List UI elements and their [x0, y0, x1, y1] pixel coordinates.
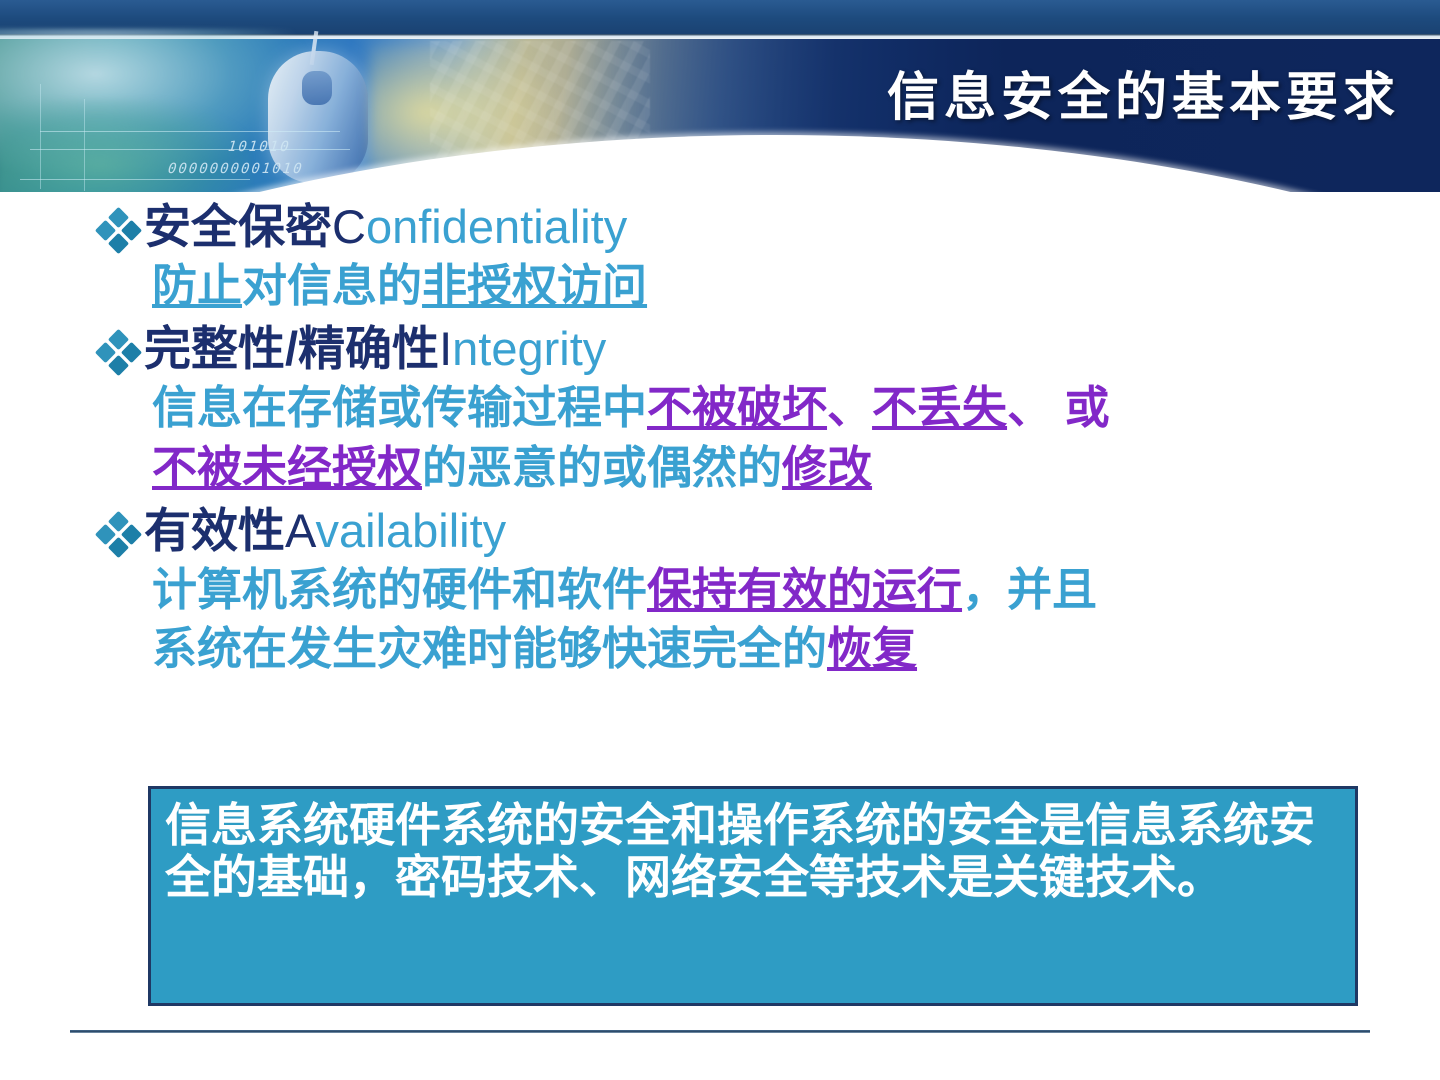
detail-segment: 计算机系统的硬件和软件	[152, 564, 647, 615]
detail-segment: 防止	[152, 260, 242, 311]
footer-divider	[70, 1030, 1370, 1033]
detail-segment: 对信息的	[242, 260, 422, 311]
bullet-term-en-initial: I	[439, 322, 452, 375]
scanline	[30, 149, 350, 150]
diamond-cluster-icon	[98, 514, 144, 560]
bullet-block-confidentiality: 安全保密Confidentiality 防止对信息的非授权访问	[0, 200, 1440, 316]
slide-body: 安全保密Confidentiality 防止对信息的非授权访问 完整性/精确性I…	[0, 200, 1440, 685]
summary-callout-text: 信息系统硬件系统的安全和操作系统的安全是信息系统安全的基础，密码技术、网络安全等…	[165, 799, 1341, 904]
detail-segment: 不丢失	[872, 382, 1007, 433]
bullet-detail-line: 防止对信息的非授权访问	[0, 256, 1440, 316]
detail-segment: 系统在发生灾难时能够快速完全的	[152, 623, 827, 674]
bullet-heading: 有效性Availability	[0, 504, 1440, 560]
summary-callout-box: 信息系统硬件系统的安全和操作系统的安全是信息系统安全的基础，密码技术、网络安全等…	[148, 786, 1358, 1006]
detail-segment: 信息在存储或传输过程中	[152, 382, 647, 433]
page-title: 信息安全的基本要求	[887, 72, 1400, 124]
grid-line	[40, 84, 41, 189]
bullet-term-en-initial: C	[332, 200, 366, 253]
detail-segment: 、	[827, 382, 872, 433]
bullet-detail-line: 不被未经授权的恶意的或偶然的修改	[0, 438, 1440, 498]
bullet-heading: 安全保密Confidentiality	[0, 200, 1440, 256]
detail-segment: 非授权访问	[422, 260, 647, 311]
bullet-heading-text: 完整性/精确性Integrity	[144, 322, 606, 377]
bullet-detail-line: 系统在发生灾难时能够快速完全的恢复	[0, 619, 1440, 679]
detail-segment: 的恶意的或偶然的	[422, 442, 782, 493]
bullet-heading-text: 有效性Availability	[144, 504, 506, 559]
bullet-heading-text: 安全保密Confidentiality	[144, 200, 627, 255]
detail-segment: 不被未经授权	[152, 442, 422, 493]
detail-segment: ，并且	[962, 564, 1097, 615]
bullet-block-availability: 有效性Availability 计算机系统的硬件和软件保持有效的运行，并且 系统…	[0, 504, 1440, 680]
bullet-heading: 完整性/精确性Integrity	[0, 322, 1440, 378]
bullet-block-integrity: 完整性/精确性Integrity 信息在存储或传输过程中不被破坏、不丢失、 或 …	[0, 322, 1440, 498]
bullet-term-en-rest: vailability	[316, 504, 507, 557]
detail-segment: 、 或	[1007, 382, 1110, 433]
scanline	[40, 131, 340, 132]
slide: 101010 0000000001010 信息安全的基本要求 安全保密Confi…	[0, 0, 1440, 1080]
detail-segment: 不被破坏	[647, 382, 827, 433]
bullet-detail-line: 信息在存储或传输过程中不被破坏、不丢失、 或	[0, 378, 1440, 438]
scanline	[20, 179, 250, 180]
bullet-term-en-rest: ntegrity	[452, 322, 606, 375]
bullet-term-cn: 完整性/精确性	[144, 322, 439, 375]
binary-digits-line-2: 0000000001010	[167, 161, 304, 177]
bullet-detail-line: 计算机系统的硬件和软件保持有效的运行，并且	[0, 560, 1440, 620]
slide-header: 101010 0000000001010 信息安全的基本要求	[0, 0, 1440, 192]
bullet-term-cn: 有效性	[144, 504, 285, 557]
grid-line	[84, 99, 85, 191]
bullet-term-cn: 安全保密	[144, 200, 332, 253]
binary-digits-line-1: 101010	[227, 139, 291, 155]
diamond-cluster-icon	[98, 332, 144, 378]
detail-segment: 修改	[782, 442, 872, 493]
bullet-term-en-rest: onfidentiality	[366, 200, 627, 253]
diamond-cluster-icon	[98, 210, 144, 256]
bullet-term-en-initial: A	[285, 504, 316, 557]
detail-segment: 恢复	[827, 623, 917, 674]
detail-segment: 保持有效的运行	[647, 564, 962, 615]
